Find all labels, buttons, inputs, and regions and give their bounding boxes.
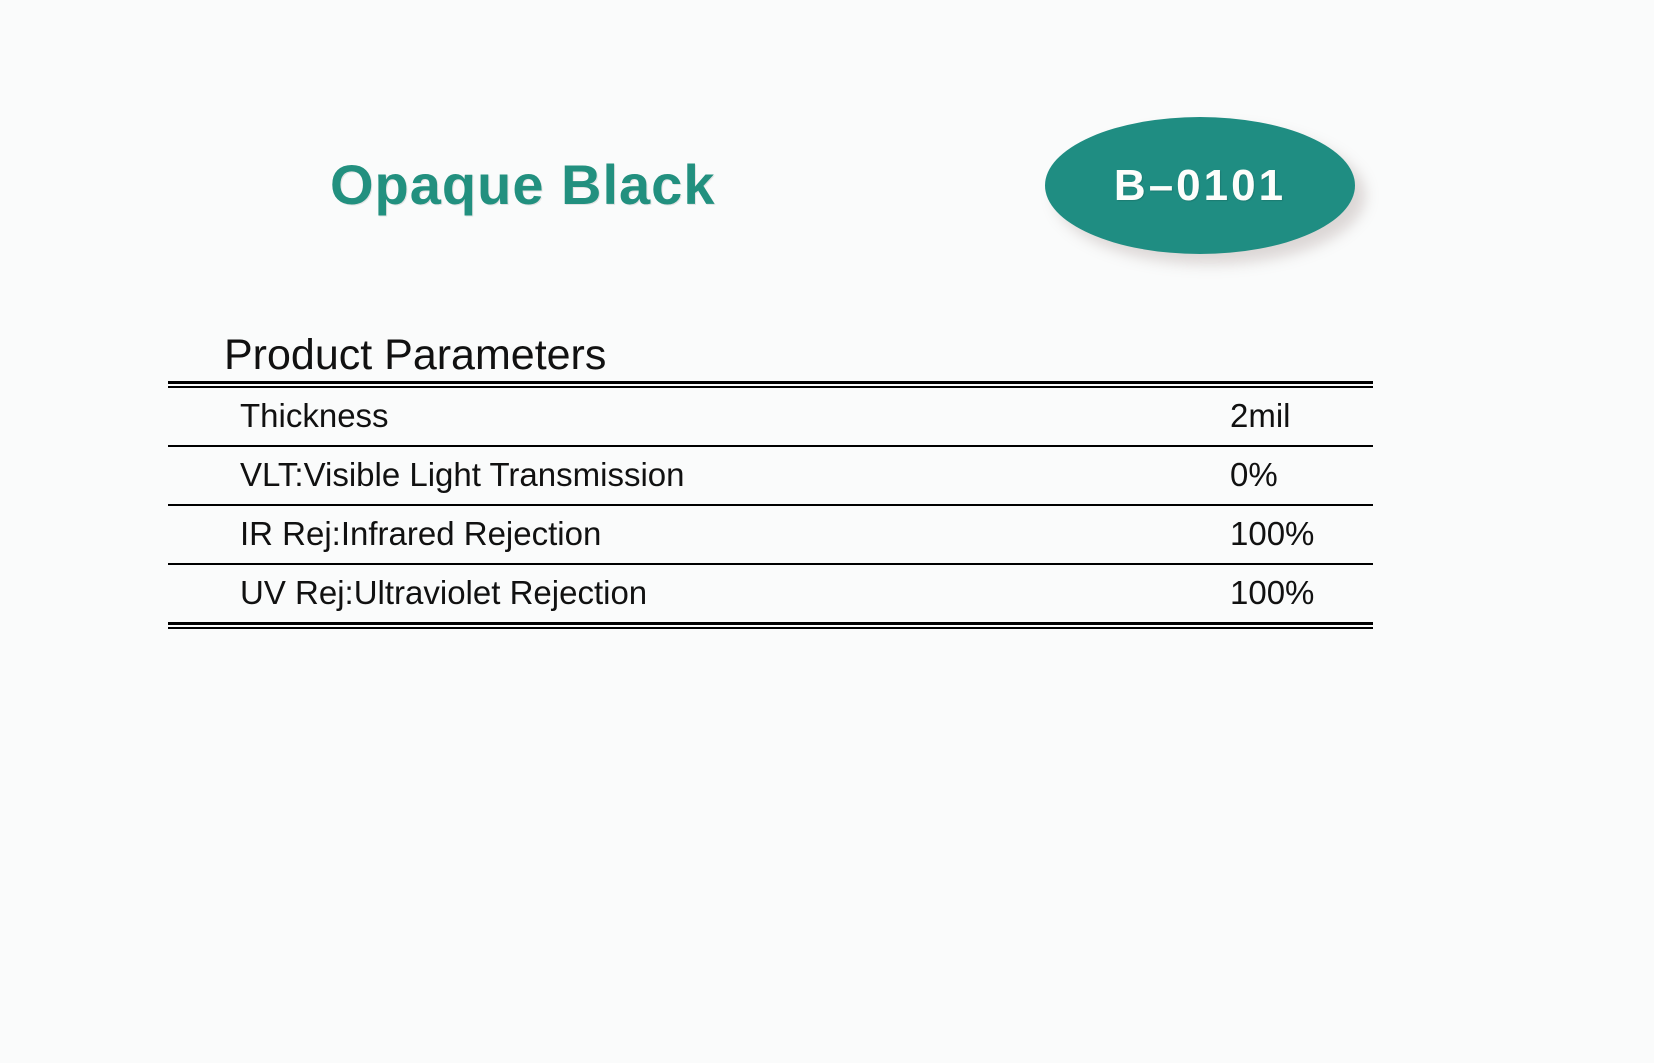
table-row: IR Rej:Infrared Rejection100% — [168, 506, 1373, 565]
table-row: UV Rej:Ultraviolet Rejection100% — [168, 565, 1373, 622]
table-top-rule — [168, 381, 1373, 388]
section-heading: Product Parameters — [168, 330, 1373, 381]
product-parameters-section: Product Parameters Thickness2milVLT:Visi… — [168, 330, 1373, 629]
spec-value: 100% — [1168, 574, 1373, 612]
table-row: Thickness2mil — [168, 388, 1373, 447]
spec-value: 100% — [1168, 515, 1373, 553]
spec-label: Thickness — [168, 397, 1168, 435]
spec-label: IR Rej:Infrared Rejection — [168, 515, 1168, 553]
spec-label: UV Rej:Ultraviolet Rejection — [168, 574, 1168, 612]
product-code-badge: B–0101 — [1045, 117, 1355, 254]
product-code-label: B–0101 — [1114, 161, 1286, 211]
spec-table: Thickness2milVLT:Visible Light Transmiss… — [168, 388, 1373, 622]
table-bottom-rule — [168, 622, 1373, 629]
page-title: Opaque Black — [330, 152, 715, 217]
spec-label: VLT:Visible Light Transmission — [168, 456, 1168, 494]
product-spec-page: Opaque Black B–0101 Product Parameters T… — [0, 0, 1654, 1063]
spec-value: 0% — [1168, 456, 1373, 494]
table-row: VLT:Visible Light Transmission0% — [168, 447, 1373, 506]
spec-value: 2mil — [1168, 397, 1373, 435]
